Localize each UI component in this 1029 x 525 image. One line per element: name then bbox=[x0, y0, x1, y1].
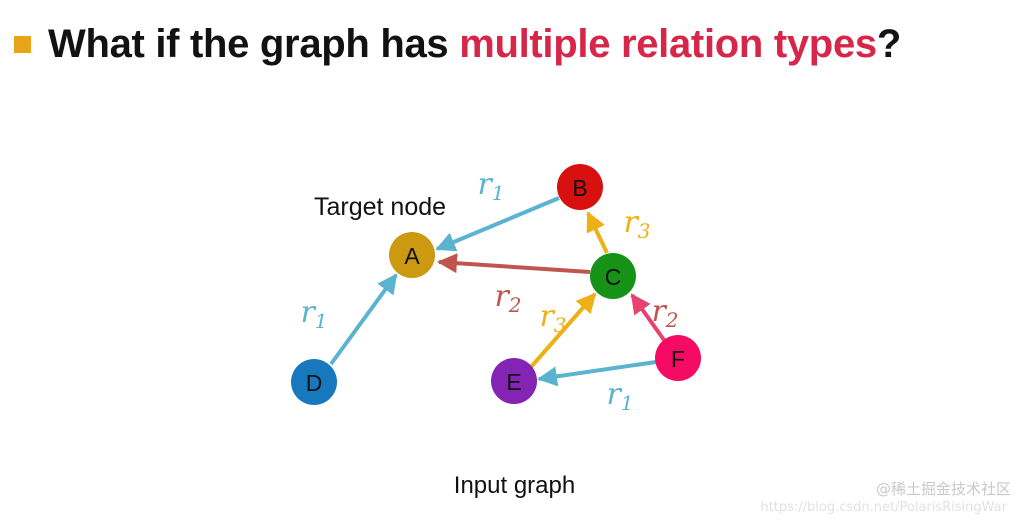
node-label-F: F bbox=[671, 346, 685, 372]
edge-D-to-A bbox=[331, 275, 396, 364]
edge-C-to-A bbox=[439, 262, 590, 272]
edge-label-C-A: r2 bbox=[494, 279, 521, 318]
edge-label-B-A: r1 bbox=[477, 167, 504, 206]
node-label-D: D bbox=[306, 370, 323, 396]
watermark-url: https://blog.csdn.net/PolarisRisingWar bbox=[760, 500, 1007, 515]
edge-F-to-E bbox=[539, 362, 656, 379]
edge-label-F-C: r2 bbox=[651, 294, 678, 333]
edge-C-to-B bbox=[588, 213, 607, 253]
edge-label-D-A: r1 bbox=[300, 295, 327, 334]
edge-B-to-A bbox=[437, 198, 559, 249]
node-label-B: B bbox=[572, 175, 587, 201]
graph-canvas: A B C D E F r1 r2 r1 r3 bbox=[0, 0, 1029, 525]
node-label-A: A bbox=[404, 243, 420, 269]
watermark-handle: @稀土掘金技术社区 bbox=[876, 478, 1011, 499]
input-graph-caption: Input graph bbox=[0, 472, 1029, 500]
edge-label-E-C: r3 bbox=[539, 299, 566, 338]
target-node-caption: Target node bbox=[314, 193, 446, 222]
edge-label-F-E: r1 bbox=[606, 377, 633, 416]
node-label-E: E bbox=[506, 369, 521, 395]
graph-diagram: A B C D E F r1 r2 r1 r3 bbox=[0, 0, 1029, 525]
edge-label-C-B: r3 bbox=[623, 205, 650, 244]
node-label-C: C bbox=[605, 264, 622, 290]
